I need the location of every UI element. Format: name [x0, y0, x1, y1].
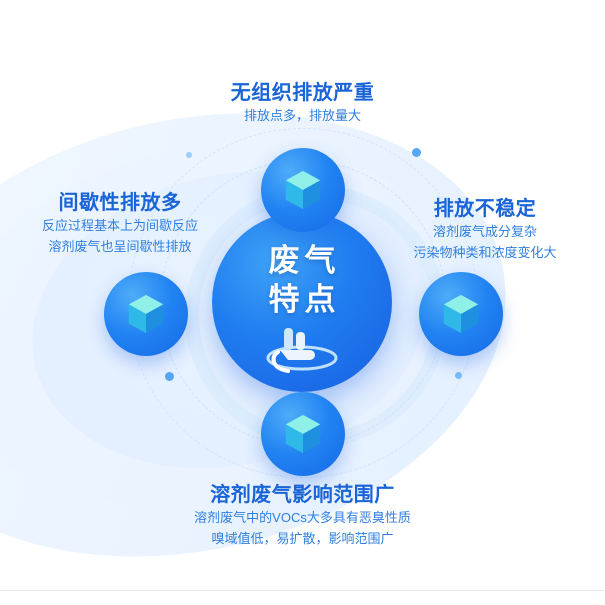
node-subtitle-bottom-line-2: 嗅域值低，易扩散，影响范围广 [0, 528, 605, 549]
center-title-line-2: 特点 [264, 281, 341, 320]
label-block-bottom: 溶剂废气影响范围广 溶剂废气中的VOCs大多具有恶臭性质 嗅域值低，易扩散，影响… [0, 478, 605, 550]
node-title-right: 排放不稳定 [379, 192, 591, 221]
decorative-dot [186, 152, 192, 158]
cube-icon [280, 411, 326, 457]
cube-icon [280, 167, 326, 213]
decorative-dot [455, 372, 462, 379]
node-subtitle-right-line-2: 污染物种类和浓度变化大 [379, 242, 591, 263]
infographic-canvas: 废气 特点 [0, 0, 605, 605]
label-block-right: 排放不稳定 溶剂废气成分复杂 污染物种类和浓度变化大 [379, 192, 591, 264]
node-subtitle-top-line-1: 排放点多，排放量大 [0, 105, 605, 126]
node-bubble-bottom[interactable] [261, 392, 345, 476]
decorative-dot [165, 372, 174, 381]
node-title-left: 间歇性排放多 [14, 186, 226, 215]
node-subtitle-bottom-line-1: 溶剂废气中的VOCs大多具有恶臭性质 [0, 507, 605, 528]
center-title-line-1: 废气 [264, 242, 341, 281]
label-block-left: 间歇性排放多 反应过程基本上为间歇反应 溶剂废气也呈间歇性排放 [14, 186, 226, 258]
footer-divider [0, 590, 605, 591]
node-bubble-left[interactable] [104, 272, 188, 356]
label-block-top: 无组织排放严重 排放点多，排放量大 [0, 76, 605, 126]
decorative-dot [412, 148, 421, 157]
hand-holding-gas-icon [254, 322, 350, 374]
cube-icon [123, 291, 169, 337]
node-title-top: 无组织排放严重 [0, 76, 605, 105]
node-title-bottom: 溶剂废气影响范围广 [0, 478, 605, 507]
center-hub: 废气 特点 [212, 212, 392, 392]
node-bubble-top[interactable] [261, 148, 345, 232]
node-bubble-right[interactable] [419, 272, 503, 356]
node-subtitle-left-line-2: 溶剂废气也呈间歇性排放 [14, 236, 226, 257]
node-subtitle-left-line-1: 反应过程基本上为间歇反应 [14, 215, 226, 236]
node-subtitle-right-line-1: 溶剂废气成分复杂 [379, 221, 591, 242]
cube-icon [438, 291, 484, 337]
